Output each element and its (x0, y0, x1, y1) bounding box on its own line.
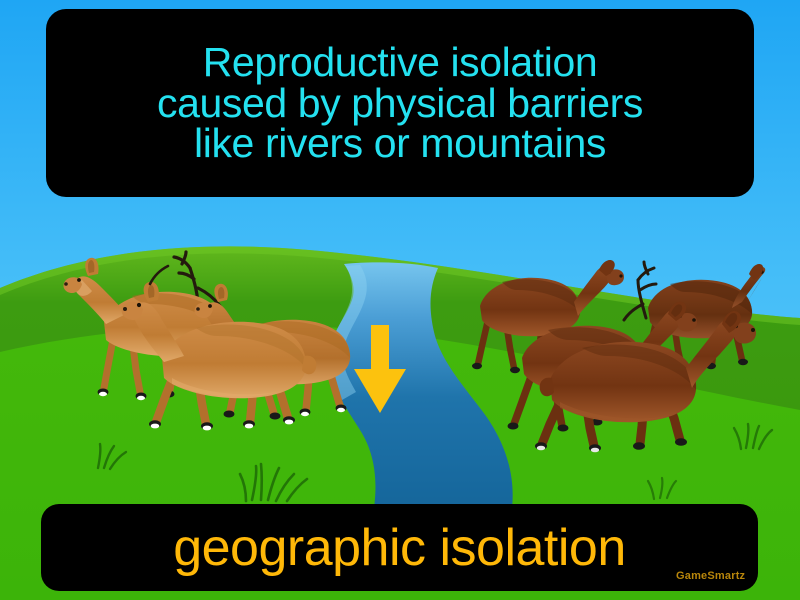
left-herd-antelope (62, 246, 352, 426)
definition-plate: Reproductive isolation caused by physica… (46, 9, 754, 197)
downstream-arrow-icon (352, 325, 408, 415)
definition-text: Reproductive isolation caused by physica… (143, 42, 657, 164)
right-herd-deer (466, 258, 766, 448)
watermark-label: GameSmartz (676, 570, 745, 582)
term-text: geographic isolation (173, 522, 626, 574)
definition-card: Reproductive isolation caused by physica… (0, 0, 800, 600)
term-plate: geographic isolation (41, 504, 758, 591)
